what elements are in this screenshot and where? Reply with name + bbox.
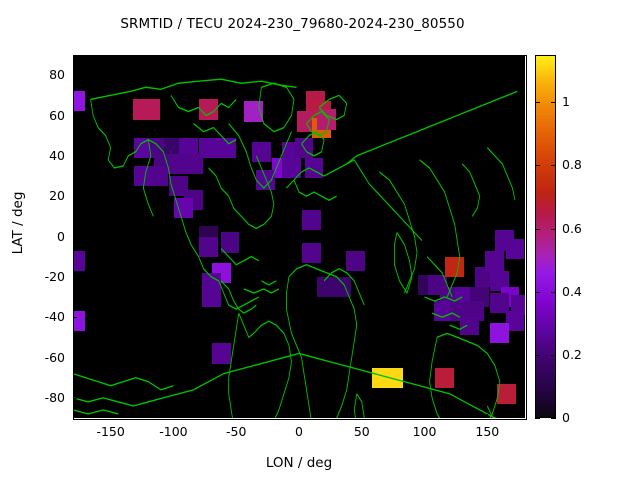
x-tick-mark xyxy=(111,414,112,418)
x-tick-label: -100 xyxy=(143,424,203,439)
y-tick-mark xyxy=(73,116,77,117)
map-plot-area[interactable] xyxy=(73,55,525,418)
x-tick-label: 0 xyxy=(269,424,329,439)
colorbar-tick-mark xyxy=(535,229,540,230)
y-tick-mark xyxy=(73,398,77,399)
colorbar-tick-label: 0.4 xyxy=(562,285,582,299)
page-title: SRMTID / TECU 2024-230_79680-2024-230_80… xyxy=(0,16,585,32)
y-tick-label: -80 xyxy=(15,391,65,405)
colorbar-tick-mark xyxy=(535,102,540,103)
colorbar-gradient xyxy=(536,56,555,417)
x-tick-mark xyxy=(299,414,300,418)
y-tick-mark xyxy=(73,277,77,278)
x-tick-mark xyxy=(236,414,237,418)
y-tick-label: 80 xyxy=(15,68,65,82)
colorbar-tick-mark xyxy=(551,355,556,356)
colorbar-tick-label: 0.6 xyxy=(562,222,582,236)
colorbar-tick-label: 0.8 xyxy=(562,158,582,172)
x-tick-label: 150 xyxy=(457,424,517,439)
colorbar-tick-mark xyxy=(535,418,540,419)
colorbar-tick-mark xyxy=(551,165,556,166)
colorbar-tick-mark xyxy=(535,292,540,293)
x-tick-label: -150 xyxy=(81,424,141,439)
y-axis-label: LAT / deg xyxy=(10,153,26,293)
colorbar-tick-mark xyxy=(535,165,540,166)
colorbar-tick-mark xyxy=(551,418,556,419)
y-tick-label: -40 xyxy=(15,310,65,324)
y-tick-label: 60 xyxy=(15,109,65,123)
colorbar-tick-mark xyxy=(535,355,540,356)
x-tick-mark xyxy=(173,414,174,418)
y-tick-mark xyxy=(73,317,77,318)
x-tick-mark xyxy=(425,414,426,418)
x-tick-label: -50 xyxy=(206,424,266,439)
colorbar-tick-label: 0.2 xyxy=(562,348,582,362)
y-tick-mark xyxy=(73,237,77,238)
y-tick-mark xyxy=(73,156,77,157)
colorbar-tick-mark xyxy=(551,102,556,103)
x-tick-mark xyxy=(487,414,488,418)
colorbar-tick-label: 0 xyxy=(562,411,570,425)
figure-canvas: SRMTID / TECU 2024-230_79680-2024-230_80… xyxy=(0,0,640,480)
colorbar[interactable] xyxy=(535,55,556,418)
y-tick-label: -60 xyxy=(15,351,65,365)
x-tick-label: 50 xyxy=(332,424,392,439)
colorbar-tick-mark xyxy=(551,292,556,293)
x-tick-mark xyxy=(362,414,363,418)
x-axis-label: LON / deg xyxy=(73,455,525,471)
coastline-overlay xyxy=(73,55,525,418)
colorbar-tick-mark xyxy=(551,229,556,230)
y-tick-mark xyxy=(73,358,77,359)
y-tick-mark xyxy=(73,196,77,197)
x-tick-label: 100 xyxy=(395,424,455,439)
y-tick-mark xyxy=(73,75,77,76)
colorbar-tick-label: 1 xyxy=(562,95,570,109)
